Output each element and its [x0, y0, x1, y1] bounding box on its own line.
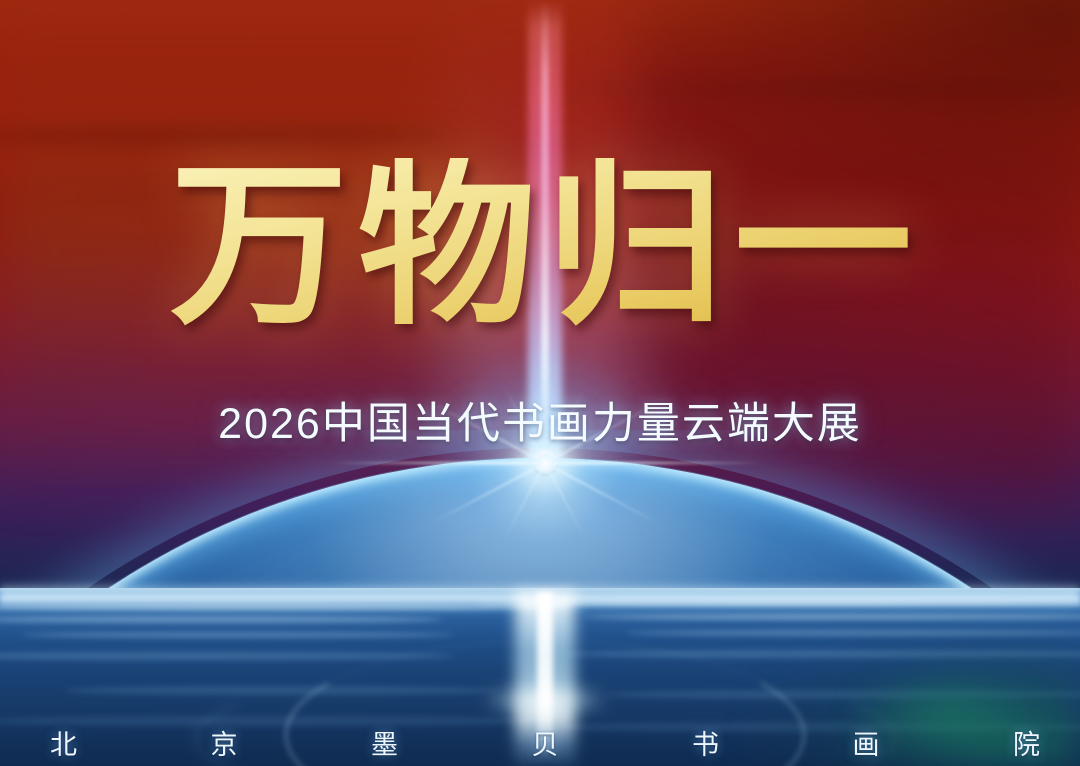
organizer-char: 画	[853, 723, 880, 762]
organizer-char: 院	[1013, 723, 1040, 762]
organizer-char: 京	[211, 723, 238, 762]
organizer-footer: 北 京 墨 贝 书 画 院	[50, 722, 1040, 762]
organizer-char: 书	[692, 723, 719, 762]
organizer-char: 贝	[532, 723, 559, 762]
poster-canvas: 万物归一 2026中国当代书画力量云端大展 北 京 墨 贝 书 画 院	[0, 0, 1080, 766]
organizer-char: 墨	[371, 723, 398, 762]
main-title: 万物归一	[0, 158, 1080, 336]
subtitle: 2026中国当代书画力量云端大展	[0, 402, 1080, 448]
text-layer: 万物归一 2026中国当代书画力量云端大展 北 京 墨 贝 书 画 院	[0, 0, 1080, 766]
organizer-char: 北	[50, 723, 77, 762]
